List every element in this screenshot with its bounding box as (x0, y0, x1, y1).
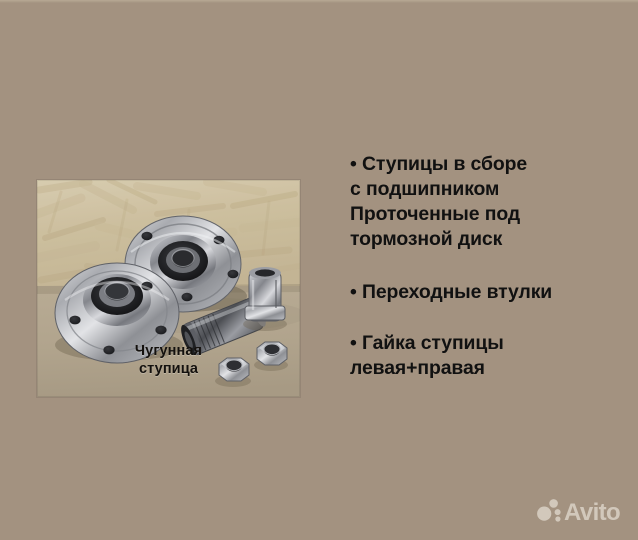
feature-item-hub-nuts: • Гайка ступицы левая+правая (350, 331, 626, 381)
top-edge-highlight (0, 0, 638, 3)
avito-dots-icon (537, 499, 561, 521)
feature-item-adapter-bushings: • Переходные втулки (350, 280, 626, 305)
photo-caption-line-1: Чугунная (37, 343, 300, 361)
advertisement-canvas: Чугунная ступица • Ступицы в сборе с под… (0, 0, 638, 540)
feature-item-hubs-assembly: • Ступицы в сборе с подшипником Проточен… (350, 152, 626, 253)
product-photo[interactable]: Чугунная ступица (37, 180, 300, 397)
photo-caption: Чугунная ступица (37, 343, 300, 378)
feature-list: • Ступицы в сборе с подшипником Проточен… (350, 152, 626, 381)
photo-caption-line-2: ступица (37, 361, 300, 379)
avito-logo: Avito (536, 497, 624, 524)
avito-wordmark: Avito (564, 499, 620, 524)
